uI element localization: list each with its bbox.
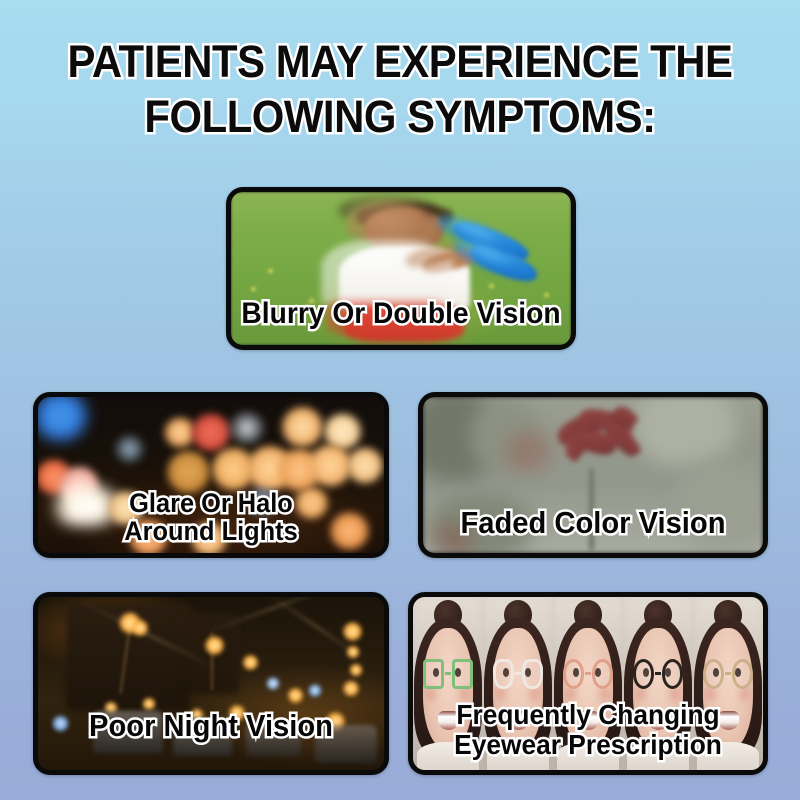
caption-line: Poor Night Vision	[48, 709, 373, 742]
caption-line: Frequently Changing	[424, 700, 753, 730]
page-title: PATIENTS MAY EXPERIENCE THE FOLLOWING SY…	[0, 34, 800, 144]
symptom-card-poor-night-vision: Poor Night Vision	[33, 592, 389, 775]
caption-faded-color-vision: Faded Color Vision	[433, 506, 753, 539]
caption-line: Faded Color Vision	[433, 506, 753, 539]
symptoms-infographic: PATIENTS MAY EXPERIENCE THE FOLLOWING SY…	[0, 0, 800, 800]
symptom-card-faded-color-vision: Faded Color Vision	[418, 392, 768, 558]
symptom-card-glare-halo: Glare Or Halo Around Lights	[33, 392, 389, 558]
page-title-line-1: PATIENTS MAY EXPERIENCE THE	[28, 34, 772, 89]
caption-line: Blurry Or Double Vision	[241, 297, 561, 330]
page-title-line-2: FOLLOWING SYMPTOMS:	[28, 89, 772, 144]
rose-gold-frames-icon	[563, 659, 613, 688]
caption-changing-eyewear-prescription: Frequently Changing Eyewear Prescription	[424, 700, 753, 760]
red-flower	[539, 406, 661, 481]
caption-line: Eyewear Prescription	[424, 730, 753, 760]
black-metal-frames-icon	[633, 659, 683, 688]
caption-line: Around Lights	[48, 517, 373, 545]
gold-round-frames-icon	[703, 659, 753, 688]
caption-blurry-double-vision: Blurry Or Double Vision	[241, 297, 561, 330]
clear-white-frames-icon	[493, 659, 543, 688]
image-night-traffic	[38, 597, 384, 770]
caption-line: Glare Or Halo	[48, 489, 373, 517]
caption-glare-halo: Glare Or Halo Around Lights	[48, 489, 373, 545]
caption-poor-night-vision: Poor Night Vision	[48, 709, 373, 742]
symptom-card-changing-eyewear-prescription: Frequently Changing Eyewear Prescription	[408, 592, 768, 775]
symptom-card-blurry-double-vision: Blurry Or Double Vision	[226, 187, 576, 350]
green-rectangle-frames-icon	[423, 659, 473, 688]
